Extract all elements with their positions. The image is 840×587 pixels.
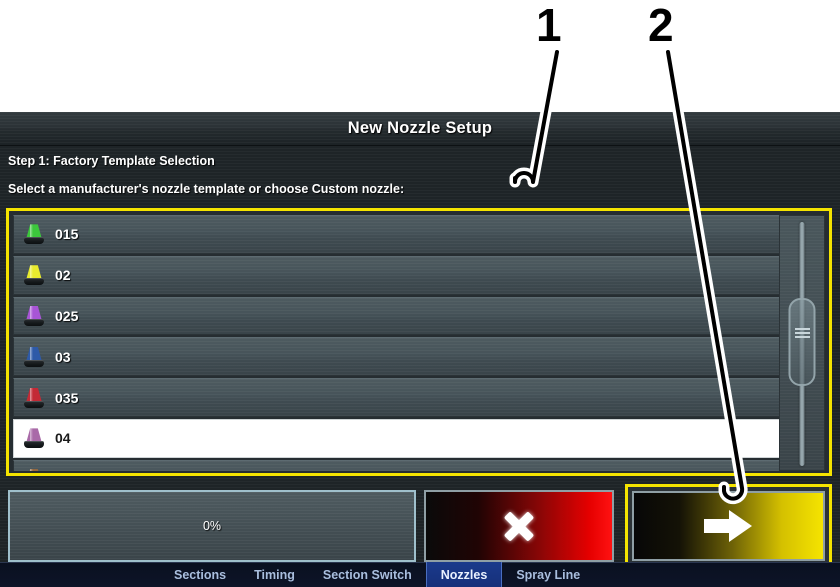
nozzle-cone-icon (24, 386, 44, 410)
vertical-scrollbar[interactable] (779, 215, 825, 471)
nozzle-list-item-label: 025 (55, 308, 78, 324)
nozzle-cone-icon (24, 426, 44, 450)
nozzle-list-item[interactable]: 015 (13, 215, 781, 254)
nozzle-list-item[interactable]: 04 (13, 419, 781, 458)
progress-bar: 0% (8, 490, 416, 562)
nozzle-list-item-label: 015 (55, 226, 78, 242)
cancel-button[interactable] (424, 490, 614, 562)
nozzle-cone-icon (24, 467, 44, 471)
nozzle-cone-icon (24, 304, 44, 328)
next-button[interactable] (632, 491, 825, 561)
nozzle-cone-icon (24, 263, 44, 287)
nozzle-list-item-label: 02 (55, 267, 71, 283)
bottom-nav-tabs[interactable]: SectionsTimingSection SwitchNozzlesSpray… (0, 562, 840, 587)
annotation-number-2: 2 (648, 2, 674, 48)
window-title-bar: New Nozzle Setup (0, 112, 840, 146)
nozzle-list-item-label: 035 (55, 390, 78, 406)
step-heading: Step 1: Factory Template Selection (8, 154, 215, 168)
nozzle-list-item[interactable]: 035 (13, 378, 781, 417)
page-title: New Nozzle Setup (348, 119, 492, 138)
next-button-highlight (625, 484, 832, 568)
nav-tab-nozzles[interactable]: Nozzles (426, 562, 503, 587)
nozzle-list-rows[interactable]: 01502025030350405 (13, 215, 781, 471)
close-x-icon (502, 509, 536, 543)
nozzle-list-item[interactable]: 02 (13, 256, 781, 295)
nozzle-list-item-label: 04 (55, 430, 71, 446)
nozzle-cone-icon (24, 222, 44, 246)
step-instruction: Select a manufacturer's nozzle template … (8, 182, 404, 196)
nav-tab-section-switch[interactable]: Section Switch (309, 562, 426, 587)
nozzle-list-item[interactable]: 03 (13, 337, 781, 376)
nozzle-cone-icon (24, 345, 44, 369)
nozzle-list-item[interactable]: 025 (13, 297, 781, 336)
nozzle-list-item[interactable]: 05 (13, 460, 781, 471)
screenshot-root: New Nozzle Setup Step 1: Factory Templat… (0, 0, 840, 587)
scrollbar-grip-icon (795, 328, 810, 340)
nav-tab-sections[interactable]: Sections (160, 562, 240, 587)
progress-label: 0% (203, 519, 221, 533)
new-nozzle-setup-window: New Nozzle Setup Step 1: Factory Templat… (0, 112, 840, 587)
annotation-number-1: 1 (536, 2, 562, 48)
nav-tab-spray-line[interactable]: Spray Line (502, 562, 594, 587)
nozzle-list-item-label: 03 (55, 349, 71, 365)
arrow-right-icon (704, 509, 754, 543)
nozzle-template-list[interactable]: 01502025030350405 (6, 208, 832, 476)
scrollbar-thumb[interactable] (789, 298, 816, 386)
nav-tab-timing[interactable]: Timing (240, 562, 309, 587)
